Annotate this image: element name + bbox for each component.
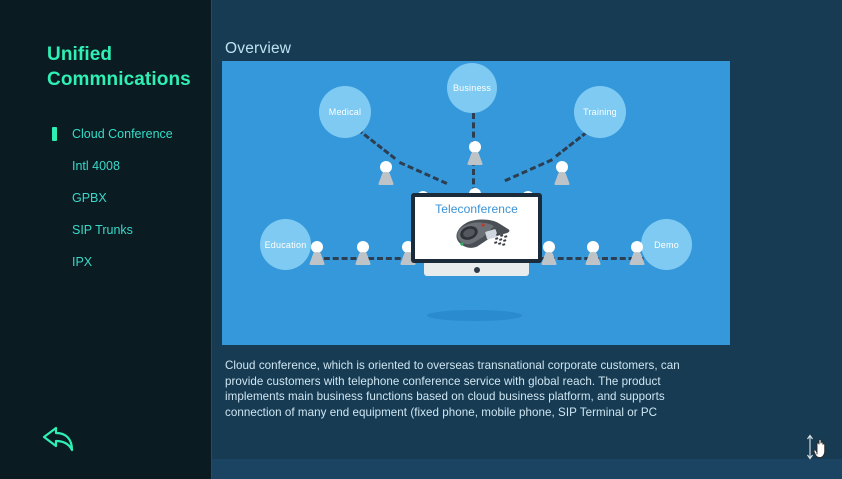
diagram-node-business[interactable]: Business (447, 63, 497, 113)
person-head-icon (587, 241, 599, 253)
node-label: Medical (329, 107, 361, 117)
person-icon (628, 241, 646, 265)
diagram-node-education[interactable]: Education (260, 219, 311, 270)
conference-speakerphone-icon (438, 216, 516, 256)
person-head-icon (543, 241, 555, 253)
sidebar-item-sip-trunks[interactable]: SIP Trunks (52, 214, 212, 246)
person-head-icon (311, 241, 323, 253)
main-content: Overview Medical Business Training Educa (212, 0, 842, 479)
diagram-node-demo[interactable]: Demo (641, 219, 692, 270)
diagram-node-medical[interactable]: Medical (319, 86, 371, 138)
node-label: Business (453, 83, 491, 93)
person-head-icon (380, 161, 392, 173)
bottom-band (212, 459, 842, 479)
person-body-icon (554, 172, 570, 185)
sidebar-item-gpbx[interactable]: GPBX (52, 182, 212, 214)
sidebar-nav: Cloud Conference Intl 4008 GPBX SIP Trun… (52, 118, 212, 278)
connector-line (399, 161, 448, 185)
node-label: Demo (654, 240, 679, 250)
node-label: Training (583, 107, 617, 117)
sidebar-item-cloud-conference[interactable]: Cloud Conference (52, 118, 212, 150)
diagram-node-training[interactable]: Training (574, 86, 626, 138)
person-head-icon (556, 161, 568, 173)
monitor-shadow (427, 310, 522, 321)
person-head-icon (631, 241, 643, 253)
teleconference-monitor[interactable]: Teleconference (411, 193, 542, 276)
monitor-chin (424, 263, 529, 276)
person-body-icon (629, 252, 645, 265)
person-icon (466, 141, 484, 165)
description-paragraph: Cloud conference, which is oriented to o… (225, 358, 713, 420)
monitor-screen: Teleconference (415, 197, 538, 259)
person-body-icon (309, 252, 325, 265)
person-head-icon (469, 141, 481, 153)
sidebar-item-label: Cloud Conference (72, 127, 173, 141)
sidebar-item-label: SIP Trunks (72, 223, 133, 237)
active-indicator-bar (52, 127, 57, 141)
page-title: Overview (225, 40, 291, 58)
person-icon (540, 241, 558, 265)
person-body-icon (378, 172, 394, 185)
screen-title: Teleconference (435, 202, 518, 216)
node-label: Education (265, 240, 307, 250)
person-body-icon (467, 152, 483, 165)
person-head-icon (357, 241, 369, 253)
monitor-button-icon (474, 267, 480, 273)
person-icon (553, 161, 571, 185)
person-body-icon (585, 252, 601, 265)
sidebar: Unified Commnications Cloud Conference I… (0, 0, 212, 479)
brand-title: Unified Commnications (47, 42, 207, 92)
sidebar-item-label: Intl 4008 (72, 159, 120, 173)
app-root: Unified Commnications Cloud Conference I… (0, 0, 842, 479)
back-arrow-icon[interactable] (40, 420, 82, 456)
sidebar-item-label: GPBX (72, 191, 107, 205)
sidebar-item-intl-4008[interactable]: Intl 4008 (52, 150, 212, 182)
sidebar-item-label: IPX (72, 255, 92, 269)
overview-diagram: Medical Business Training Education Demo (222, 61, 730, 345)
sidebar-item-ipx[interactable]: IPX (52, 246, 212, 278)
person-icon (377, 161, 395, 185)
person-icon (584, 241, 602, 265)
person-body-icon (541, 252, 557, 265)
person-body-icon (355, 252, 371, 265)
connector-line (504, 158, 553, 182)
monitor-bezel: Teleconference (411, 193, 542, 263)
person-icon (354, 241, 372, 265)
person-icon (308, 241, 326, 265)
